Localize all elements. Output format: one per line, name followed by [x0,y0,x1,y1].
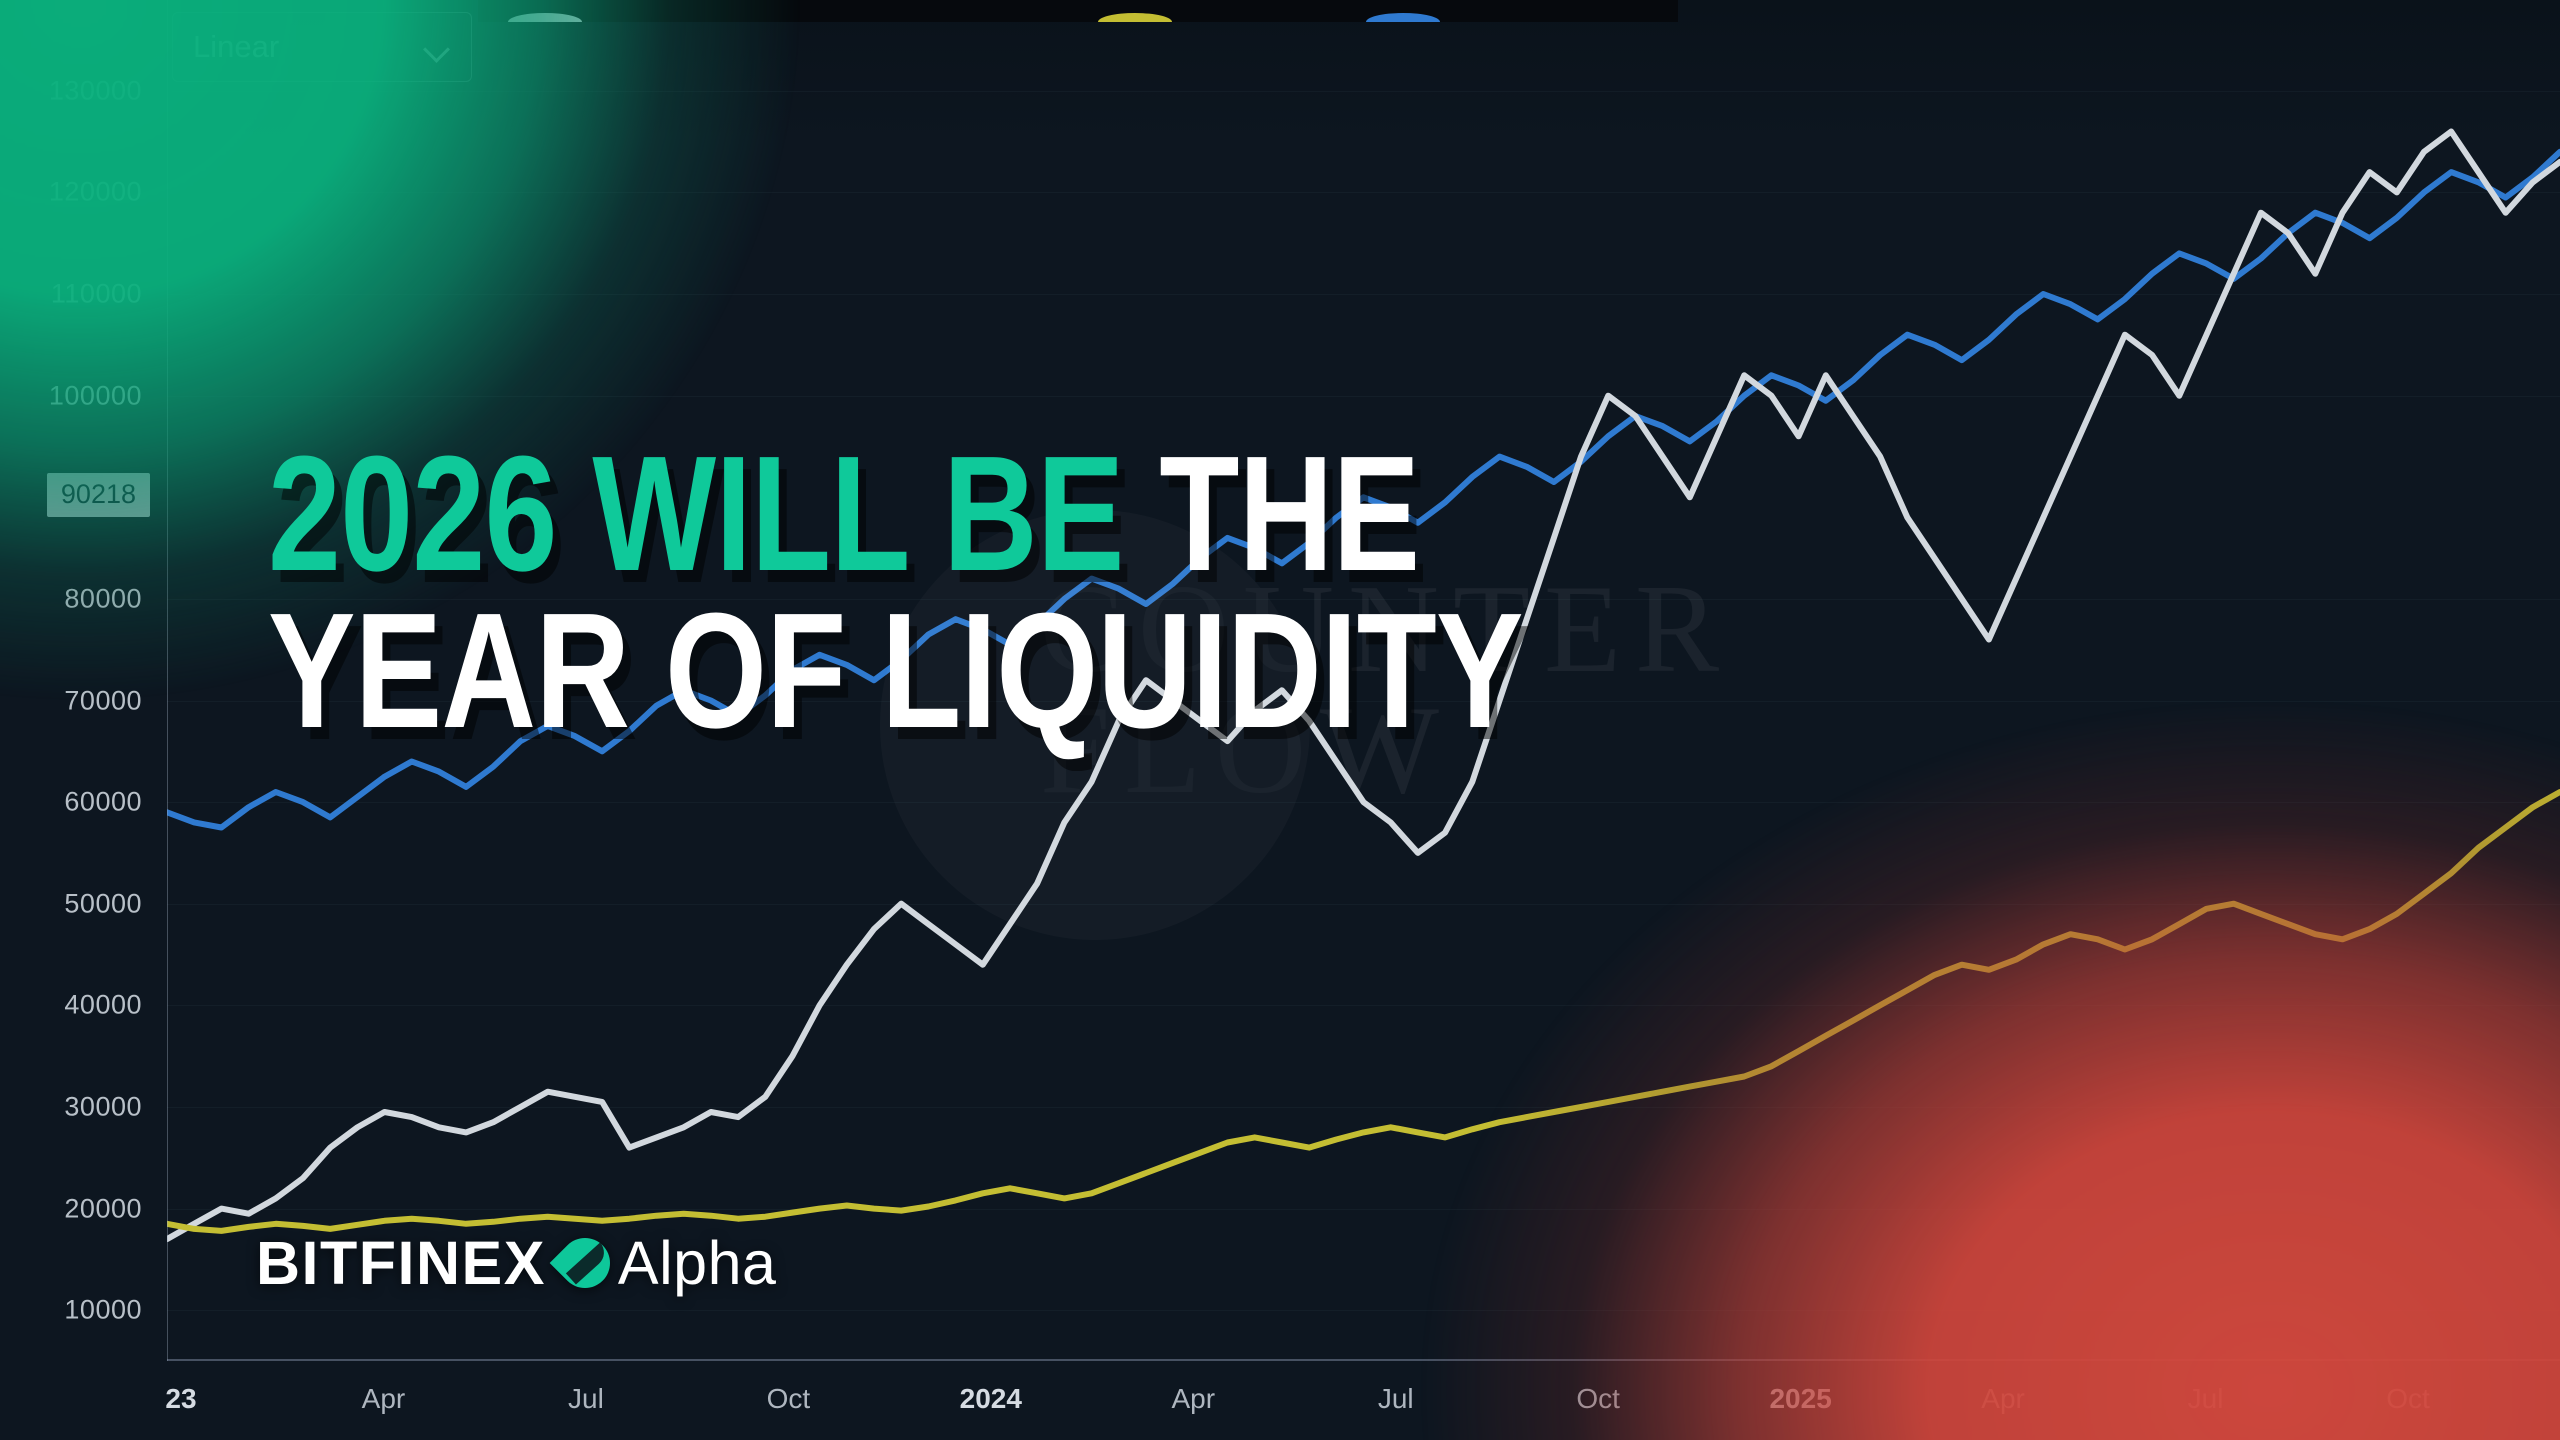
x-axis-tick: Oct [767,1383,811,1415]
logo-wordmark: BITFINEX [256,1228,546,1298]
y-axis-tick: 50000 [64,888,142,919]
y-axis-tick: 40000 [64,990,142,1021]
y-axis-tick: 30000 [64,1091,142,1122]
x-axis-tick: Apr [1171,1383,1215,1415]
y-axis-tick: 60000 [64,787,142,818]
title-line-1-rest: THE [1124,422,1420,605]
title-line-1: 2026 WILL BE THE [268,435,1628,592]
legend-swatch-blue [1366,13,1440,22]
x-axis-tick: 23 [165,1383,196,1415]
x-axis-tick: 2024 [960,1383,1022,1415]
x-axis-tick: Jul [1378,1383,1414,1415]
leaf-icon [554,1232,616,1294]
title-line-2: YEAR OF LIQUIDITY [268,592,1628,749]
y-axis-tick: 20000 [64,1193,142,1224]
y-axis-tick: 10000 [64,1295,142,1326]
bitfinex-alpha-logo: BITFINEX Alpha [256,1228,776,1298]
x-axis-tick: Jul [568,1383,604,1415]
legend-swatch-yellow [1098,13,1172,22]
page-title: 2026 WILL BE THE YEAR OF LIQUIDITY [268,435,1628,750]
bitfinex-alpha-cover: 1300001200001100001000008000070000600005… [0,0,2560,1440]
title-highlight: 2026 WILL BE [268,422,1124,605]
logo-product-name: Alpha [618,1228,777,1298]
x-axis-tick: Apr [362,1383,406,1415]
